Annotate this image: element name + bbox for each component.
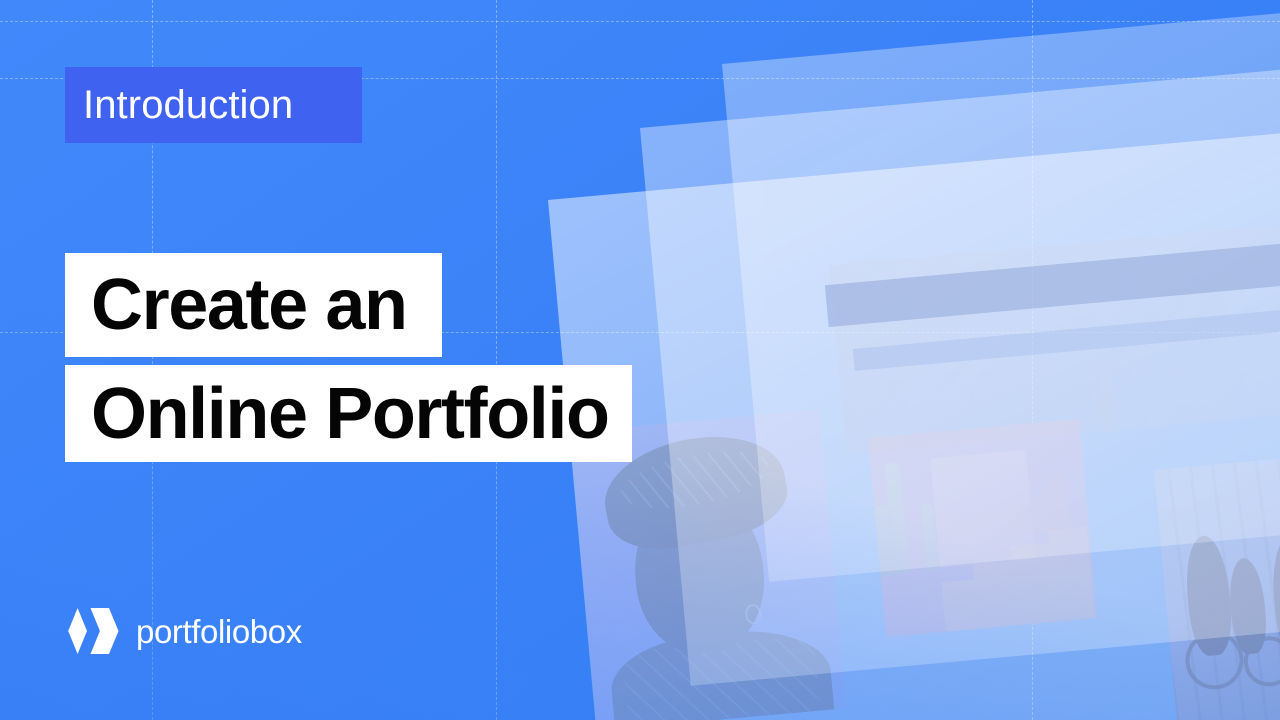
back-card <box>722 1 1280 582</box>
grid-line-vertical <box>496 0 497 720</box>
middle-card-hero-image <box>829 209 1280 454</box>
portrait-face <box>628 487 770 658</box>
cactus-plant-small <box>920 502 938 571</box>
cactus-plant <box>884 461 909 574</box>
cactus-roof <box>990 468 1069 536</box>
cyclists-backdrop <box>1154 452 1280 720</box>
slide-canvas: Introduction Create an Online Portfolio … <box>0 0 1280 720</box>
grid-line-horizontal <box>0 21 1280 22</box>
cactus-blue-wash <box>868 419 1097 637</box>
portrait-body <box>607 624 836 720</box>
cyclists-blue-wash <box>1154 452 1280 720</box>
portfoliobox-chevron-logo-icon <box>65 608 119 654</box>
portrait-earring <box>744 603 762 624</box>
title-line-2-block: Online Portfolio <box>65 365 632 462</box>
middle-card <box>640 59 1280 686</box>
portrait-hair <box>616 467 676 520</box>
grid-line-vertical <box>1032 0 1033 720</box>
hero-cactus-shape <box>1097 358 1117 433</box>
cyclist-figure <box>1268 532 1280 664</box>
title-line-1-block: Create an <box>65 253 442 357</box>
subtext-placeholder-bar <box>853 306 1280 371</box>
brand-logo: portfoliobox <box>65 608 302 654</box>
bicycle-wheel <box>1242 634 1280 688</box>
section-badge: Introduction <box>65 67 362 143</box>
cactus-photo <box>868 419 1097 637</box>
cyclists-photo <box>1154 452 1280 720</box>
page-title-line-2: Online Portfolio <box>65 378 609 450</box>
headline-placeholder-bar <box>825 239 1280 327</box>
section-badge-label: Introduction <box>65 85 293 125</box>
cyclist-figure <box>1226 557 1269 656</box>
cactus-backdrop <box>868 419 1097 637</box>
page-title-line-1: Create an <box>65 269 407 341</box>
cyclist-figure <box>1182 534 1235 657</box>
cactus-wall <box>930 450 1036 568</box>
bicycle-wheel <box>1183 629 1246 692</box>
brand-wordmark: portfoliobox <box>136 615 302 648</box>
front-card <box>548 126 1280 720</box>
cactus-stairs <box>938 527 1096 632</box>
